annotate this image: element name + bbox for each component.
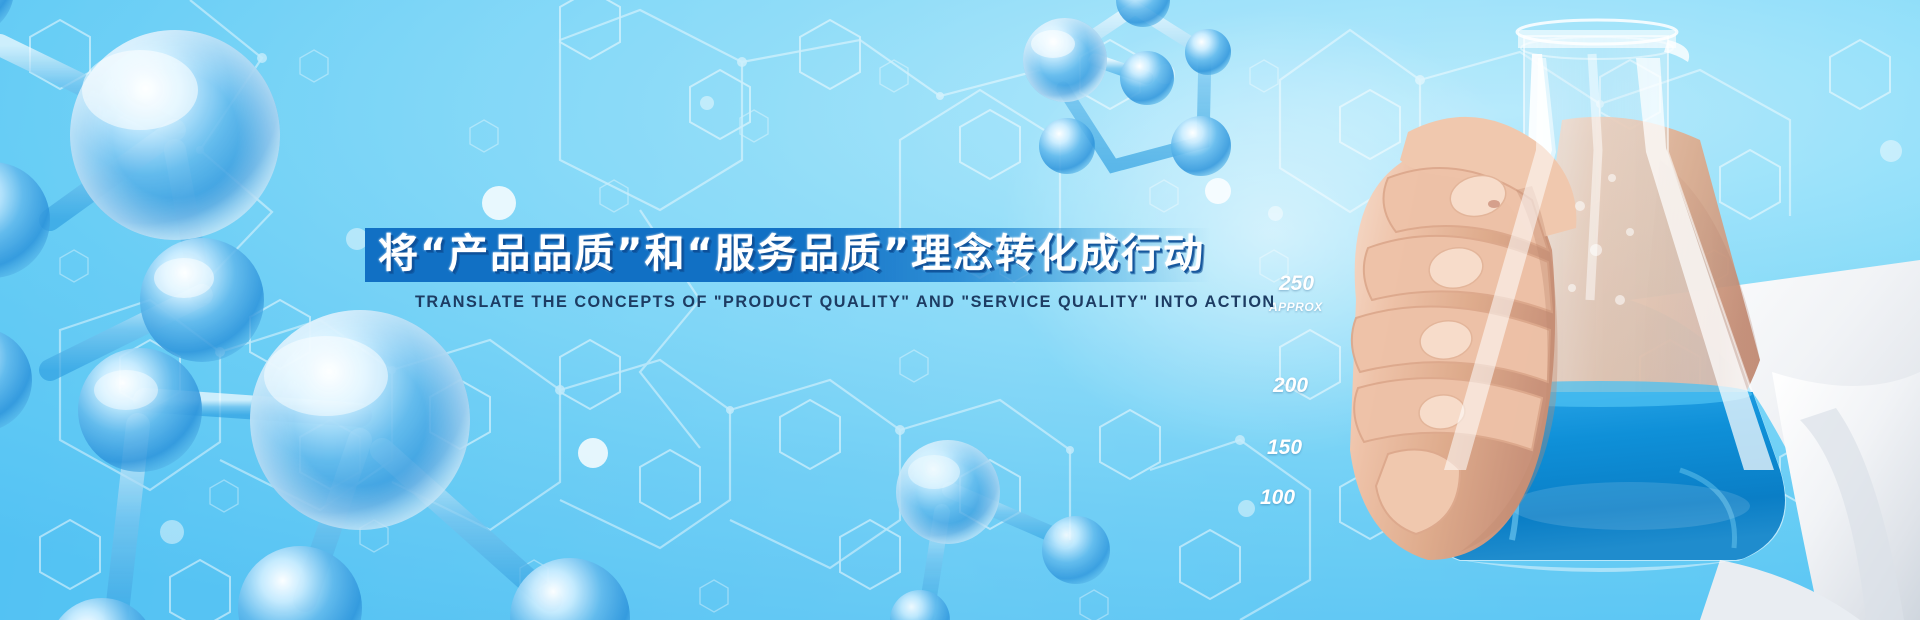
banner-text-block: 将“产品品质”和“服务品质”理念转化成行动 TRANSLATE THE CONC… <box>0 0 1920 620</box>
hero-banner: 250 APPROX 200 150 100 将“产品品质”和“服务品质”理念转… <box>0 0 1920 620</box>
page-subtitle: TRANSLATE THE CONCEPTS OF "PRODUCT QUALI… <box>415 290 1276 314</box>
page-title: 将“产品品质”和“服务品质”理念转化成行动 <box>378 226 1205 282</box>
